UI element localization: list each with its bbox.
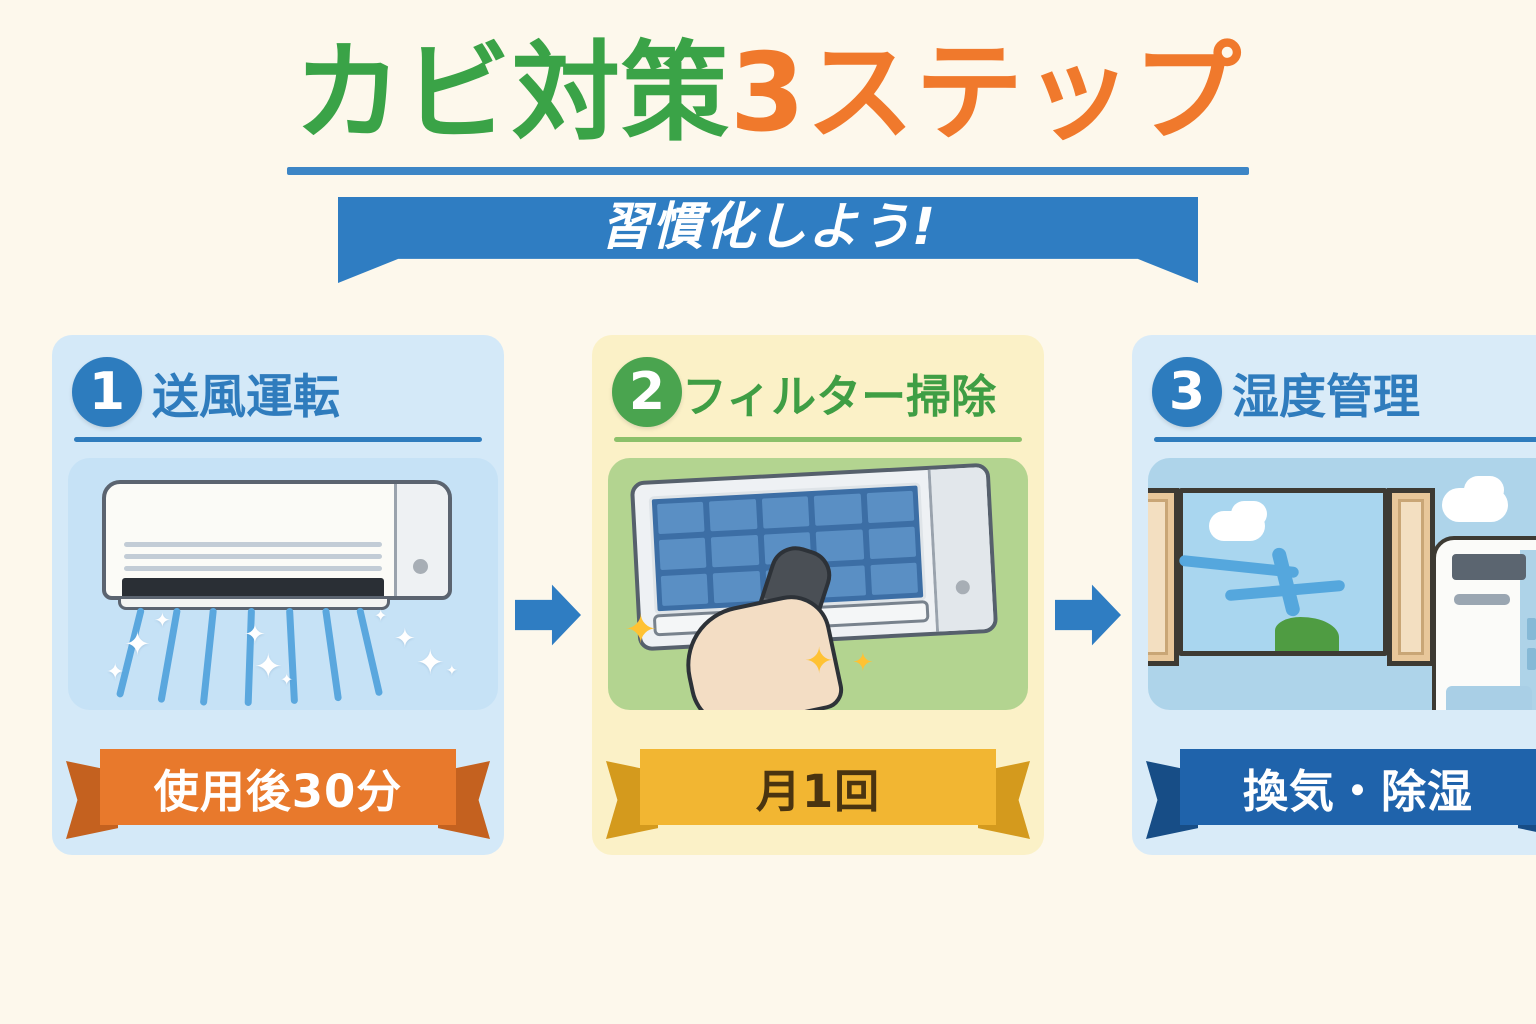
sparkle-icon: ✦: [244, 622, 266, 648]
window-shutter-left: [1148, 488, 1179, 666]
arrow-right-icon: [1055, 582, 1121, 648]
step-card-2[interactable]: 2 フィルター掃除 ✦ ✦ ✦: [592, 335, 1044, 855]
sparkle-icon: ✦: [374, 608, 387, 624]
title-underline: [287, 167, 1249, 175]
ribbon-label-2: 月1回: [756, 755, 880, 820]
banner-shape: 習慣化しよう!: [338, 197, 1198, 283]
step-number-badge-2: 2: [612, 357, 682, 427]
ventilation-dehumidifier-illustration: [1148, 458, 1536, 710]
sparkle-icon: ✦: [446, 664, 458, 678]
steps-row: 1 送風運転 ✦ ✦ ✦ ✦ ✦ ✦: [52, 335, 1484, 855]
step-title-3: 湿度管理: [1232, 358, 1420, 427]
sparkle-icon: ✦: [280, 672, 293, 688]
step-number-badge-1: 1: [72, 357, 142, 427]
ribbon-body: 使用後30分: [100, 749, 456, 825]
step-3-divider: [1154, 437, 1536, 442]
sparkle-icon: ✦: [394, 626, 416, 652]
sparkle-icon: ✦: [254, 650, 283, 684]
sparkle-icon: ✦: [804, 644, 834, 680]
step-3-ribbon: 換気・除湿: [1146, 743, 1536, 847]
sparkle-icon: ✦: [154, 610, 171, 630]
air-conditioner-fan-illustration: ✦ ✦ ✦ ✦ ✦ ✦ ✦ ✦ ✦ ✦: [68, 458, 498, 710]
step-card-3[interactable]: 3 湿度管理: [1132, 335, 1536, 855]
arrow-step2-to-step3: [1044, 335, 1132, 855]
dehumidifier-icon: [1432, 536, 1536, 710]
cloud-icon: [1231, 501, 1267, 527]
step-2-header: 2 フィルター掃除: [608, 353, 1028, 431]
step-1-divider: [74, 437, 482, 442]
step-1-ribbon: 使用後30分: [66, 743, 490, 847]
window-shutter-right: [1387, 488, 1435, 666]
ribbon-label-3: 換気・除湿: [1243, 755, 1473, 820]
ribbon-body: 月1回: [640, 749, 996, 825]
arrow-step1-to-step2: [504, 335, 592, 855]
sparkle-icon: ✦: [124, 628, 151, 660]
arrow-right-icon: [515, 582, 581, 648]
step-2-ribbon: 月1回: [606, 743, 1030, 847]
step-number-badge-3: 3: [1152, 357, 1222, 427]
sparkle-icon: ✦: [106, 662, 124, 684]
page-header: カビ対策3ステップ 習慣化しよう!: [0, 0, 1536, 283]
sparkle-icon: ✦: [416, 646, 445, 680]
sparkle-icon: ✦: [624, 610, 658, 650]
air-conditioner-icon: [102, 480, 452, 600]
subtitle-banner: 習慣化しよう!: [338, 197, 1198, 283]
page-title-green-part: カビ対策: [294, 31, 730, 156]
ribbon-label-1: 使用後30分: [154, 755, 403, 820]
step-3-header: 3 湿度管理: [1148, 353, 1536, 431]
open-window-icon: [1178, 488, 1388, 656]
step-2-divider: [614, 437, 1022, 442]
page-title: カビ対策3ステップ: [0, 34, 1536, 155]
page-title-orange-part: 3ステップ: [730, 31, 1242, 156]
step-1-header: 1 送風運転: [68, 353, 488, 431]
banner-label: 習慣化しよう!: [600, 197, 936, 259]
step-title-2: フィルター掃除: [682, 360, 996, 425]
step-title-1: 送風運転: [152, 358, 340, 427]
ribbon-body: 換気・除湿: [1180, 749, 1536, 825]
filter-cleaning-illustration: ✦ ✦ ✦: [608, 458, 1028, 710]
cloud-icon: [1464, 476, 1504, 504]
step-card-1[interactable]: 1 送風運転 ✦ ✦ ✦ ✦ ✦ ✦: [52, 335, 504, 855]
sparkle-icon: ✦: [852, 650, 874, 676]
